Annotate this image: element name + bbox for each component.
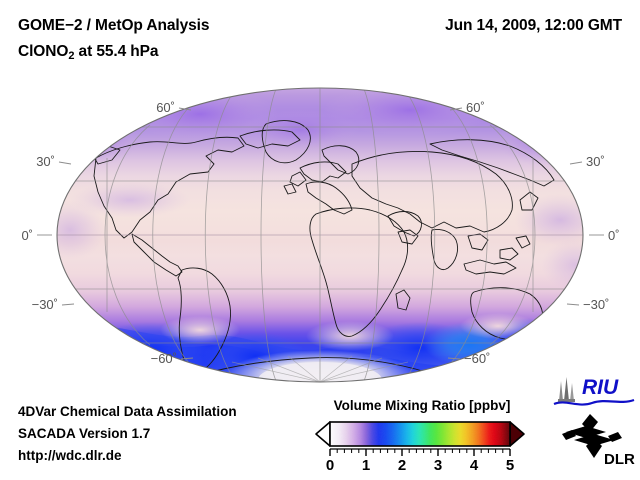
timestamp-label: Jun 14, 2009, 12:00 GMT (445, 17, 622, 35)
lat-label-30n-right: 30˚ (586, 154, 605, 169)
page-title-instrument: GOME−2 / MetOp Analysis (18, 17, 209, 35)
lat-label-0-left: 0˚ (21, 228, 33, 243)
colorbar-extend-max (510, 422, 524, 446)
colorbar-dither (330, 422, 510, 446)
colorbar-minor-ticks (337, 449, 503, 453)
colorbar-tick-3: 3 (434, 457, 442, 473)
riu-tower-icon (558, 377, 575, 402)
riu-logo: RIU (552, 375, 636, 409)
colorbar-tick-4: 4 (470, 457, 479, 473)
colorbar-tick-0: 0 (326, 457, 334, 473)
footer-line-method: 4DVar Chemical Data Assimilation (18, 401, 237, 423)
visualization-page: GOME−2 / MetOp Analysis ClONO2 at 55.4 h… (0, 0, 640, 480)
mollweide-map: 60˚ 30˚ 0˚ −30˚ −60˚ 60˚ 30˚ 0˚ −30˚ (0, 80, 640, 395)
species-prefix: ClONO (18, 43, 68, 60)
map-container: 60˚ 30˚ 0˚ −30˚ −60˚ 60˚ 30˚ 0˚ −30˚ (0, 80, 640, 395)
lat-label-60s-left: −60˚ (151, 351, 177, 366)
colorbar-major-ticks (330, 449, 510, 456)
footer-line-version: SACADA Version 1.7 (18, 423, 237, 445)
lat-label-0-right: 0˚ (608, 228, 620, 243)
colorbar-tick-2: 2 (398, 457, 406, 473)
species-suffix: at 55.4 hPa (74, 43, 158, 60)
riu-label: RIU (582, 376, 619, 399)
colorbar-title: Volume Mixing Ratio [ppbv] (306, 398, 538, 413)
colorbar-tick-5: 5 (506, 457, 514, 473)
lat-tick-30s-right (567, 304, 579, 305)
footer-line-url[interactable]: http://wdc.dlr.de (18, 445, 237, 467)
dlr-label: DLR (604, 451, 635, 468)
colorbar: 0 1 2 3 4 5 (306, 418, 538, 473)
lat-label-60n-left: 60˚ (156, 100, 175, 115)
colorbar-block: Volume Mixing Ratio [ppbv] (306, 398, 538, 473)
lat-label-30s-right: −30˚ (583, 297, 609, 312)
lat-tick-30n-right (570, 162, 582, 164)
lat-label-30n-left: 30˚ (36, 154, 55, 169)
colorbar-extend-min (316, 422, 330, 446)
lat-tick-30n-left (59, 162, 71, 164)
data-field (34, 84, 609, 395)
dlr-logo: DLR (560, 412, 636, 470)
lat-label-60n-right: 60˚ (466, 100, 485, 115)
lat-label-60s-right: −60˚ (464, 351, 490, 366)
page-title-species: ClONO2 at 55.4 hPa (18, 43, 158, 61)
lat-tick-30s-left (62, 304, 74, 305)
colorbar-tick-labels: 0 1 2 3 4 5 (326, 457, 514, 473)
colorbar-tick-1: 1 (362, 457, 370, 473)
footer-text-block: 4DVar Chemical Data Assimilation SACADA … (18, 401, 237, 467)
lat-label-30s-left: −30˚ (32, 297, 58, 312)
species-subscript: 2 (68, 50, 74, 62)
